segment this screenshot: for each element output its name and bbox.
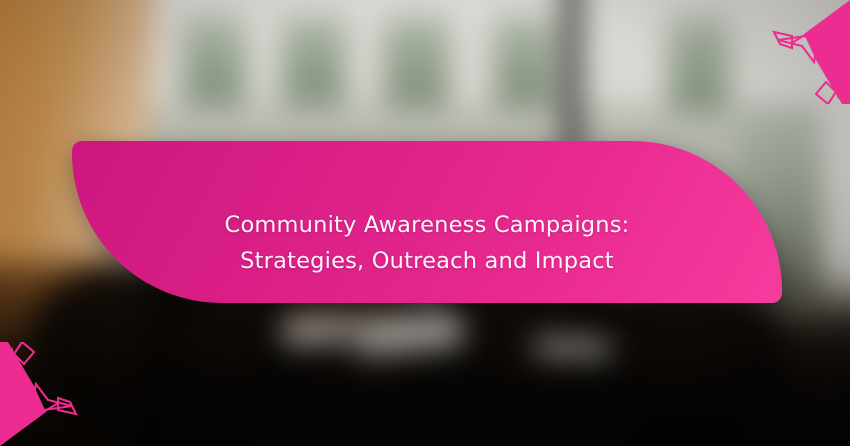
title-line-1: Community Awareness Campaigns: xyxy=(225,212,630,238)
page-title: Community Awareness Campaigns: Strategie… xyxy=(185,207,670,280)
slide-canvas: Community Awareness Campaigns: Strategie… xyxy=(0,0,850,446)
title-banner: Community Awareness Campaigns: Strategie… xyxy=(72,141,782,303)
title-line-2: Strategies, Outreach and Impact xyxy=(225,243,630,279)
